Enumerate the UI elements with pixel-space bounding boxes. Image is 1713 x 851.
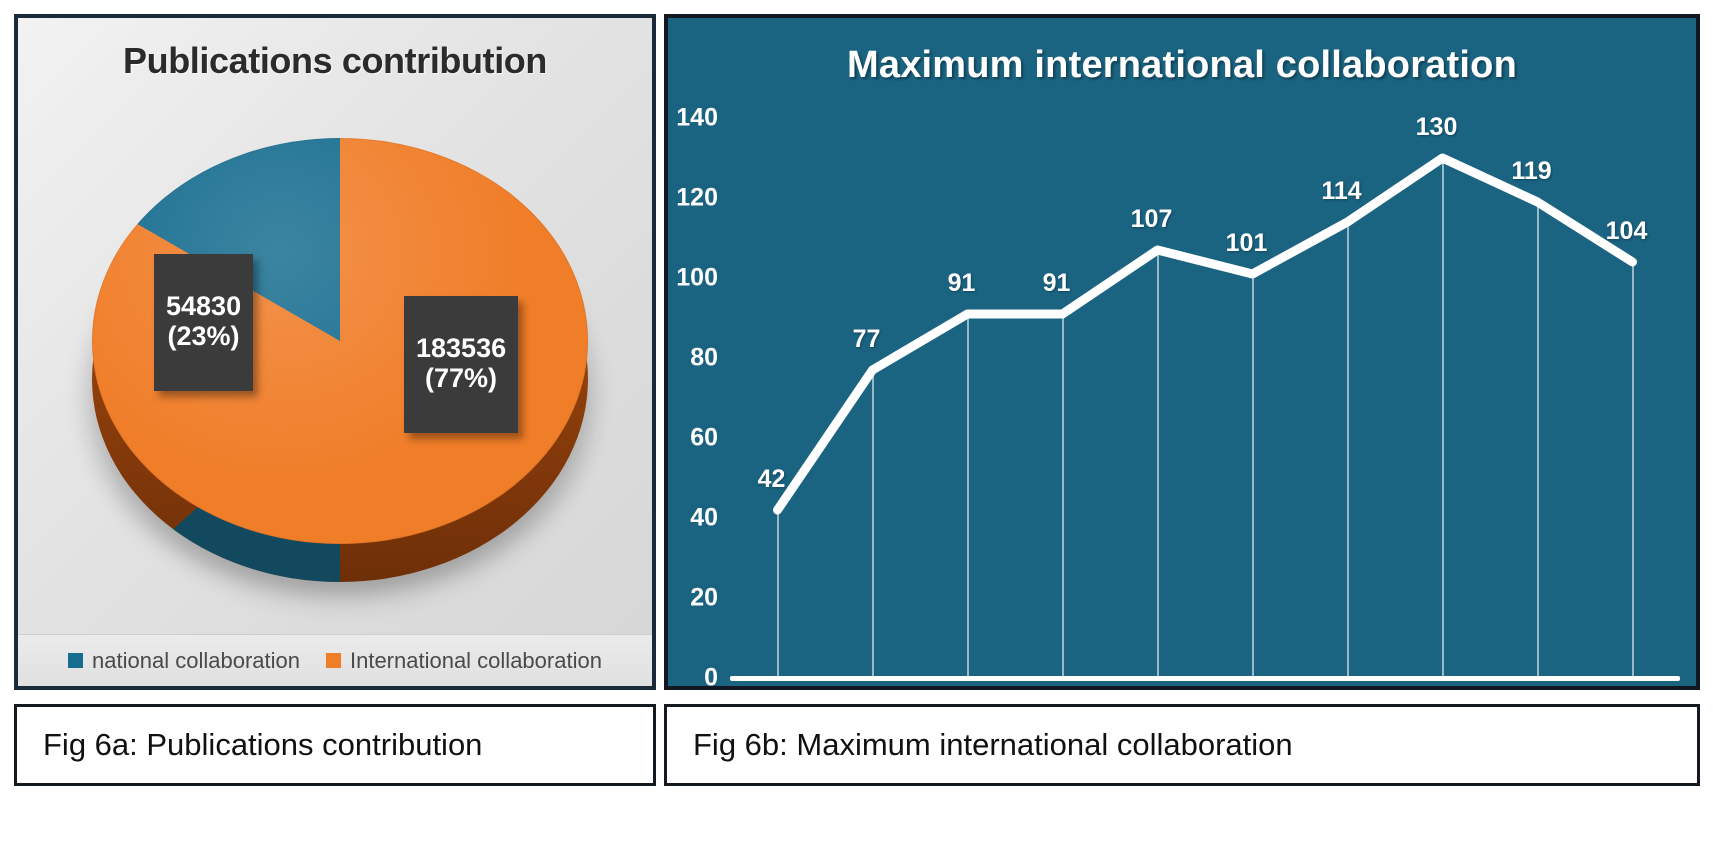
y-axis-tick-60: 60 (690, 424, 718, 453)
data-label-2022: 104 (1606, 217, 1648, 246)
figure-6a-panel: Publications contribution 54830 (23%) 18… (14, 14, 656, 690)
legend-item-international: International collaboration (326, 648, 602, 674)
data-label-2016: 91 (1043, 269, 1071, 298)
data-label-2013: 42 (758, 465, 786, 494)
legend-swatch-international-icon (326, 653, 341, 668)
pie-chart: 54830 (23%) 183536 (77%) (64, 116, 616, 586)
data-label-2015: 91 (948, 269, 976, 298)
pie-slice-value-national: 54830 (166, 291, 241, 321)
legend-label-international: International collaboration (350, 648, 602, 674)
data-label-2020: 130 (1416, 113, 1458, 142)
figure-page: Publications contribution 54830 (23%) 18… (0, 0, 1713, 851)
y-axis-tick-100: 100 (676, 264, 718, 293)
data-label-2021: 119 (1511, 157, 1551, 186)
data-label-2014: 77 (853, 325, 881, 354)
figure-6a-caption: Fig 6a: Publications contribution (14, 704, 656, 786)
y-axis-tick-40: 40 (690, 504, 718, 533)
y-axis-tick-20: 20 (690, 584, 718, 613)
legend-item-national: national collaboration (68, 648, 300, 674)
line-chart-title: Maximum international collaboration (668, 44, 1696, 87)
pie-slice-value-international: 183536 (416, 333, 506, 363)
legend-label-national: national collaboration (92, 648, 300, 674)
figure-6b-caption: Fig 6b: Maximum international collaborat… (664, 704, 1700, 786)
data-label-2019: 114 (1321, 177, 1361, 206)
y-axis-tick-0: 0 (704, 664, 718, 691)
line-series-path (730, 118, 1680, 678)
figure-6b-panel: Maximum international collaboration 0204… (664, 14, 1700, 690)
pie-slice-percent-international: (77%) (416, 363, 506, 393)
data-label-2017: 107 (1131, 205, 1173, 234)
y-axis-tick-80: 80 (690, 344, 718, 373)
line-chart-plot-area: 0204060801001201404277919110710111413011… (730, 118, 1680, 678)
pie-slice-label-international: 183536 (77%) (404, 296, 518, 433)
pie-chart-title: Publications contribution (18, 40, 652, 82)
pie-slice-percent-national: (23%) (166, 321, 241, 351)
data-label-2018: 101 (1226, 229, 1268, 258)
y-axis-tick-140: 140 (676, 104, 718, 133)
pie-legend: national collaboration International col… (18, 634, 652, 686)
y-axis-tick-120: 120 (676, 184, 718, 213)
pie-slice-label-national: 54830 (23%) (154, 254, 253, 391)
legend-swatch-national-icon (68, 653, 83, 668)
